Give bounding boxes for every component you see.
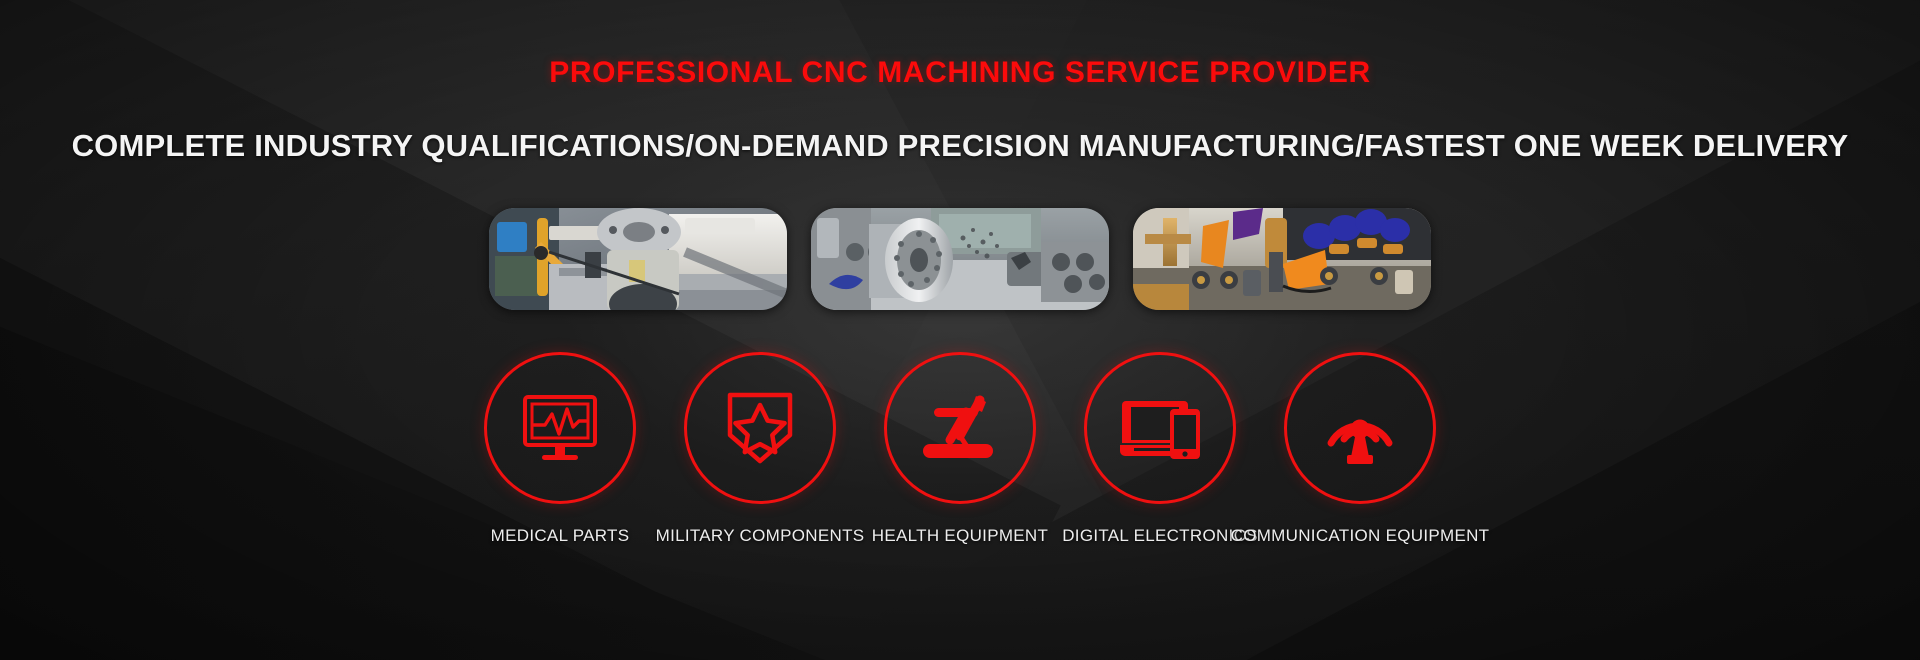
antenna-signal-icon xyxy=(1322,389,1398,467)
laptop-phone-icon xyxy=(1118,395,1202,461)
icon-circle xyxy=(684,352,836,504)
category-item-health-equipment[interactable]: HEALTH EQUIPMENT xyxy=(880,352,1040,546)
heart-monitor-icon xyxy=(521,394,599,462)
category-label: MEDICAL PARTS xyxy=(491,526,630,546)
icon-circle xyxy=(884,352,1036,504)
category-item-military-components[interactable]: MILITARY COMPONENTS xyxy=(680,352,840,546)
category-item-digital-electronics[interactable]: DIGITAL ELECTRONICS xyxy=(1080,352,1240,546)
category-icon-row: MEDICAL PARTS MILITARY COMPONENTS xyxy=(480,352,1440,546)
cnc-lathe-machining-photo xyxy=(489,208,787,310)
category-label: DIGITAL ELECTRONICS xyxy=(1062,526,1258,546)
turning-chuck-chips-photo xyxy=(811,208,1109,310)
category-item-communication-equipment[interactable]: COMMUNICATION EQUIPMENT xyxy=(1280,352,1440,546)
precision-assembly-photo xyxy=(1133,208,1431,310)
category-label: MILITARY COMPONENTS xyxy=(656,526,865,546)
shield-star-icon xyxy=(725,391,795,465)
banner-content: PROFESSIONAL CNC MACHINING SERVICE PROVI… xyxy=(0,0,1920,660)
icon-circle xyxy=(1084,352,1236,504)
banner-headline: PROFESSIONAL CNC MACHINING SERVICE PROVI… xyxy=(0,56,1920,90)
banner-subheadline: COMPLETE INDUSTRY QUALIFICATIONS/ON-DEMA… xyxy=(0,128,1920,164)
photo-strip xyxy=(489,208,1431,310)
category-item-medical-parts[interactable]: MEDICAL PARTS xyxy=(480,352,640,546)
cnc-promo-banner: PROFESSIONAL CNC MACHINING SERVICE PROVI… xyxy=(0,0,1920,660)
category-label: COMMUNICATION EQUIPMENT xyxy=(1231,526,1490,546)
icon-circle xyxy=(1284,352,1436,504)
icon-circle xyxy=(484,352,636,504)
category-label: HEALTH EQUIPMENT xyxy=(872,526,1048,546)
treadmill-icon xyxy=(920,392,1000,464)
